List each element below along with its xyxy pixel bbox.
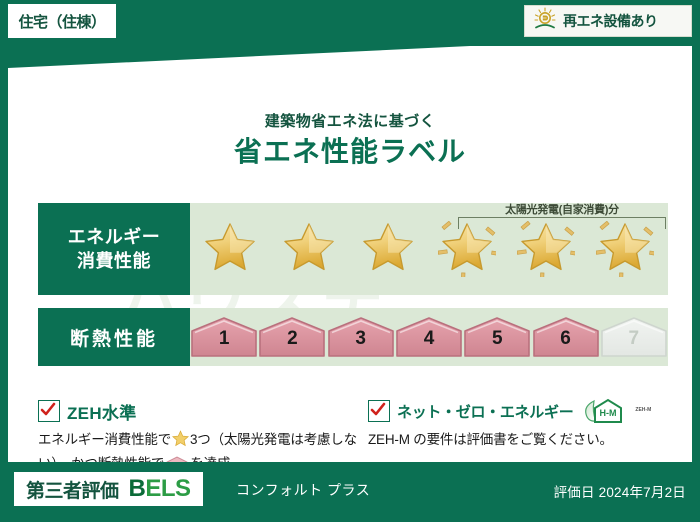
page-title: 省エネ性能ラベル [8, 130, 692, 170]
net-zero-energy-block: ネット・ゼロ・エネルギー H-M ZEH-M ZEH-M の要件は評価書をご覧く… [368, 398, 680, 451]
house-badge-number: 3 [327, 328, 395, 350]
house-badge-number: 6 [532, 328, 600, 350]
insulation-grade-1: 1 [190, 308, 258, 366]
check-icon [38, 400, 60, 422]
star-icon [517, 221, 575, 277]
insulation-performance-panel: 1234567 [190, 308, 668, 366]
sun-solar-icon [532, 7, 558, 36]
house-badge-icon: 1 [190, 316, 258, 358]
header-bar: 住宅（住棟） 再エネ設備あり [0, 0, 700, 52]
inline-star-icon [172, 430, 189, 454]
energy-label-line1: エネルギー [68, 225, 161, 249]
star-icon [596, 221, 654, 277]
star-icon [438, 221, 496, 277]
label-subtitle: 建築物省エネ法に基づく [8, 110, 692, 131]
star-2 [269, 203, 348, 295]
net-zero-energy-header: ネット・ゼロ・エネルギー H-M ZEH-M [368, 398, 680, 424]
bels-logo-els: ELS [145, 475, 190, 502]
energy-performance-label: エネルギー 消費性能 [38, 203, 190, 295]
energy-performance-row: エネルギー 消費性能 太陽光発電(自家消費)分 [38, 203, 668, 295]
star-rating [190, 203, 668, 295]
insulation-grade-3: 3 [327, 308, 395, 366]
house-badge-icon: 4 [395, 316, 463, 358]
renewable-equipment-label: 再エネ設備あり [563, 11, 658, 31]
card-notch-shape [8, 46, 692, 68]
star-5 [506, 203, 585, 295]
house-badge-number: 5 [463, 328, 531, 350]
check-icon [368, 400, 390, 422]
evaluation-date: 評価日 2024年7月2日 [554, 481, 686, 501]
star-icon [201, 221, 259, 277]
house-badge-number: 4 [395, 328, 463, 350]
insulation-grade-5: 5 [463, 308, 531, 366]
insulation-performance-row: 断熱性能 1234567 [38, 308, 668, 366]
zeh-m-logo: H-M [582, 397, 628, 425]
building-type-badge: 住宅（住棟） [8, 4, 116, 38]
house-badge-icon: 7 [600, 316, 668, 358]
insulation-grade-2: 2 [258, 308, 326, 366]
zeh-desc-part1: エネルギー消費性能で [38, 432, 171, 447]
insulation-grade-scale: 1234567 [190, 308, 668, 366]
bels-logo-b: B [129, 475, 146, 502]
product-name: コンフォルト プラス [236, 480, 370, 500]
bels-certification-box: 第三者評価 BELS [14, 472, 203, 506]
star-icon [359, 221, 417, 277]
house-badge-number: 7 [600, 328, 668, 350]
star-icon [280, 221, 338, 277]
zeh-standard-title: ZEH水準 [67, 399, 137, 424]
label-card: ハウスデ 建築物省エネ法に基づく 省エネ性能ラベル エネルギー 消費性能 太陽光… [8, 46, 692, 462]
house-badge-icon: 5 [463, 316, 531, 358]
third-party-evaluation-label: 第三者評価 [26, 476, 119, 503]
insulation-performance-label: 断熱性能 [38, 308, 190, 366]
star-4 [427, 203, 506, 295]
insulation-grade-4: 4 [395, 308, 463, 366]
house-badge-icon: 2 [258, 316, 326, 358]
footer-bar: 第三者評価 BELS コンフォルト プラス 評価日 2024年7月2日 [0, 462, 700, 522]
zeh-m-logo-caption: ZEH-M [635, 407, 651, 415]
insulation-grade-7: 7 [600, 308, 668, 366]
insulation-label-text: 断熱性能 [70, 324, 158, 351]
house-badge-icon: 6 [532, 316, 600, 358]
star-1 [190, 203, 269, 295]
star-3 [348, 203, 427, 295]
house-badge-number: 1 [190, 328, 258, 350]
energy-label-line2: 消費性能 [77, 249, 151, 273]
svg-text:H-M: H-M [600, 408, 617, 418]
building-type-label: 住宅（住棟） [18, 11, 105, 32]
zeh-standard-header: ZEH水準 [38, 398, 368, 424]
house-badge-number: 2 [258, 328, 326, 350]
renewable-equipment-badge: 再エネ設備あり [524, 5, 692, 37]
house-badge-icon: 3 [327, 316, 395, 358]
net-zero-energy-description: ZEH-M の要件は評価書をご覧ください。 [368, 430, 680, 451]
insulation-grade-6: 6 [531, 308, 599, 366]
bels-logo: BELS [129, 475, 191, 503]
star-6 [585, 203, 664, 295]
energy-performance-panel: 太陽光発電(自家消費)分 [190, 203, 668, 295]
net-zero-energy-title: ネット・ゼロ・エネルギー [397, 401, 573, 422]
